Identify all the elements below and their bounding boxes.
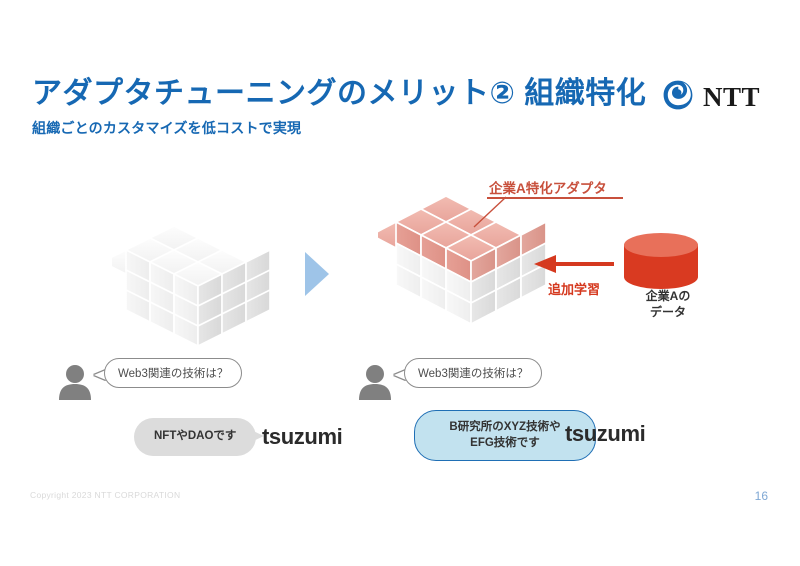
training-arrow-label: 追加学習 bbox=[548, 279, 600, 298]
data-cylinder-icon bbox=[622, 233, 700, 291]
answer-bubble: NFTやDAOです bbox=[134, 418, 256, 456]
model-name-label: tsuzumi bbox=[262, 424, 342, 450]
base-model-cube bbox=[112, 218, 272, 353]
training-arrow bbox=[534, 255, 616, 273]
data-label-line1: 企業Aの bbox=[620, 288, 716, 304]
ntt-logo: NTT bbox=[661, 78, 760, 117]
data-label-line2: データ bbox=[620, 304, 716, 320]
page-number: 16 bbox=[755, 489, 768, 503]
ntt-circle-mark-icon bbox=[661, 78, 695, 117]
slide-canvas: アダプタチューニングのメリット② 組織特化 組織ごとのカスタマイズを低コストで実… bbox=[0, 0, 800, 566]
ntt-logo-text: NTT bbox=[703, 82, 760, 113]
person-icon bbox=[58, 364, 92, 400]
tuned-model-cube bbox=[378, 190, 548, 340]
question-bubble: Web3関連の技術は？ bbox=[404, 358, 542, 388]
answer-line1: B研究所のXYZ技術や bbox=[431, 420, 579, 436]
person-icon bbox=[358, 364, 392, 400]
adapter-callout-label: 企業A特化アダプタ bbox=[489, 177, 607, 197]
model-name-label: tsuzumi bbox=[565, 421, 645, 447]
page-title: アダプタチューニングのメリット② 組織特化 bbox=[32, 68, 646, 112]
page-subtitle: 組織ごとのカスタマイズを低コストで実現 bbox=[32, 118, 301, 138]
question-bubble: Web3関連の技術は？ bbox=[104, 358, 242, 388]
transform-arrow bbox=[305, 252, 329, 296]
copyright-text: Copyright 2023 NTT CORPORATION bbox=[30, 490, 180, 500]
answer-line2: EFG技術です bbox=[431, 436, 579, 452]
data-cylinder-label: 企業Aの データ bbox=[620, 288, 716, 320]
adapter-leader-line bbox=[468, 195, 508, 230]
